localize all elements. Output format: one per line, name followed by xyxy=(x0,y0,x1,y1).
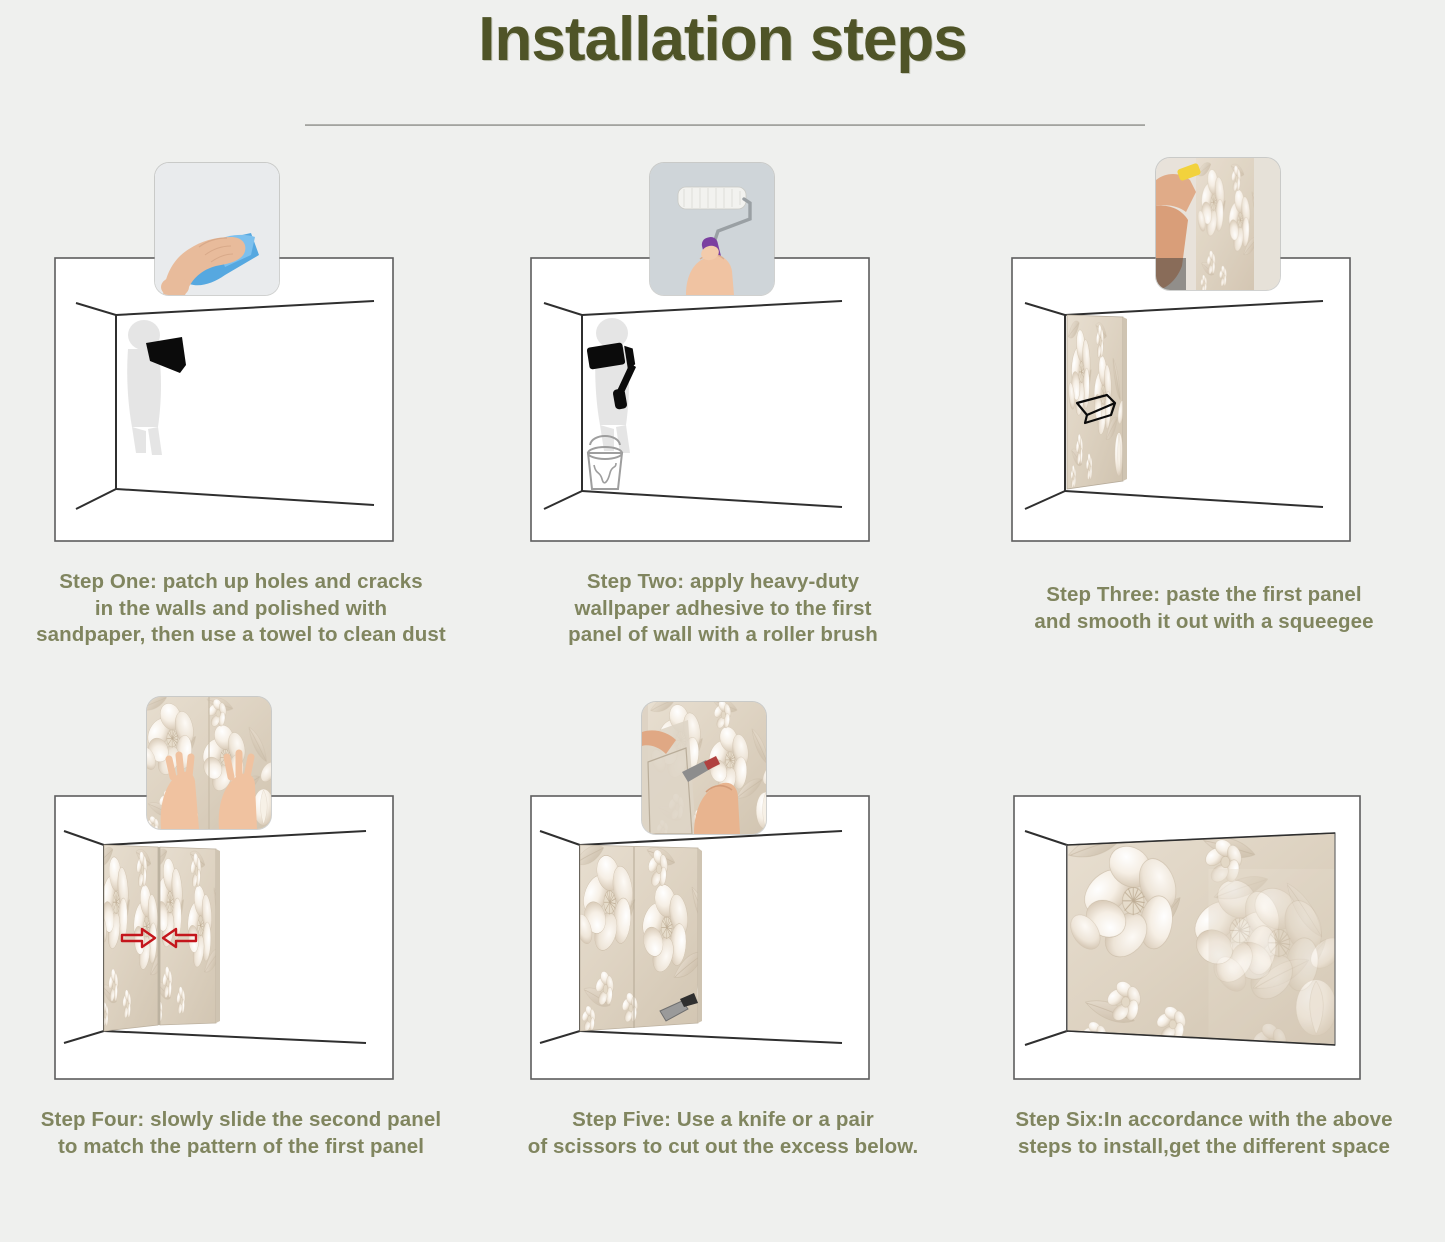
step-one-cell: Step One: patch up holes and cracks in t… xyxy=(0,152,482,697)
step-four-cell: Step Four: slowly slide the second panel… xyxy=(0,697,482,1242)
step-five-cell: Step Five: Use a knife or a pair of scis… xyxy=(482,697,964,1242)
first-wallpaper-panel xyxy=(1067,315,1127,493)
title-divider xyxy=(305,124,1145,126)
step-six-room-diagram xyxy=(1013,795,1361,1080)
step-five-room-diagram xyxy=(530,795,870,1080)
step-two-room-diagram xyxy=(530,257,870,542)
hand-with-cloth-photo xyxy=(155,163,279,295)
step-five-caption: Step Five: Use a knife or a pair of scis… xyxy=(482,1107,964,1160)
page-title: Installation steps xyxy=(0,4,1445,75)
step-four-caption: Step Four: slowly slide the second panel… xyxy=(0,1107,482,1160)
squeegee-on-panel-photo xyxy=(1156,158,1280,290)
steps-row-top: Step One: patch up holes and cracks in t… xyxy=(0,152,1445,697)
installation-steps-infographic: Installation steps xyxy=(0,0,1445,1217)
step-three-room-diagram xyxy=(1011,257,1351,542)
step-six-cell: Step Six:In accordance with the above st… xyxy=(963,697,1445,1242)
step-three-cell: Step Three: paste the first panel and sm… xyxy=(963,152,1445,697)
knife-cutting-photo xyxy=(642,702,766,834)
step-two-caption: Step Two: apply heavy-duty wallpaper adh… xyxy=(482,569,964,649)
step-one-caption: Step One: patch up holes and cracks in t… xyxy=(0,569,482,649)
step-five-thumbnail xyxy=(642,702,766,834)
steps-row-bottom: Step Four: slowly slide the second panel… xyxy=(0,697,1445,1242)
step-two-thumbnail xyxy=(650,163,774,295)
step-three-thumbnail xyxy=(1156,158,1280,290)
step-two-cell: Step Two: apply heavy-duty wallpaper adh… xyxy=(482,152,964,697)
step-four-thumbnail xyxy=(147,697,271,829)
step-one-thumbnail xyxy=(155,163,279,295)
step-six-caption: Step Six:In accordance with the above st… xyxy=(963,1107,1445,1160)
step-four-room-diagram xyxy=(54,795,394,1080)
step-one-room-diagram xyxy=(54,257,394,542)
paint-roller-photo xyxy=(650,163,774,295)
step-three-caption: Step Three: paste the first panel and sm… xyxy=(963,582,1445,635)
steps-grid: Step One: patch up holes and cracks in t… xyxy=(0,152,1445,1242)
two-hands-on-panels-photo xyxy=(147,697,271,829)
